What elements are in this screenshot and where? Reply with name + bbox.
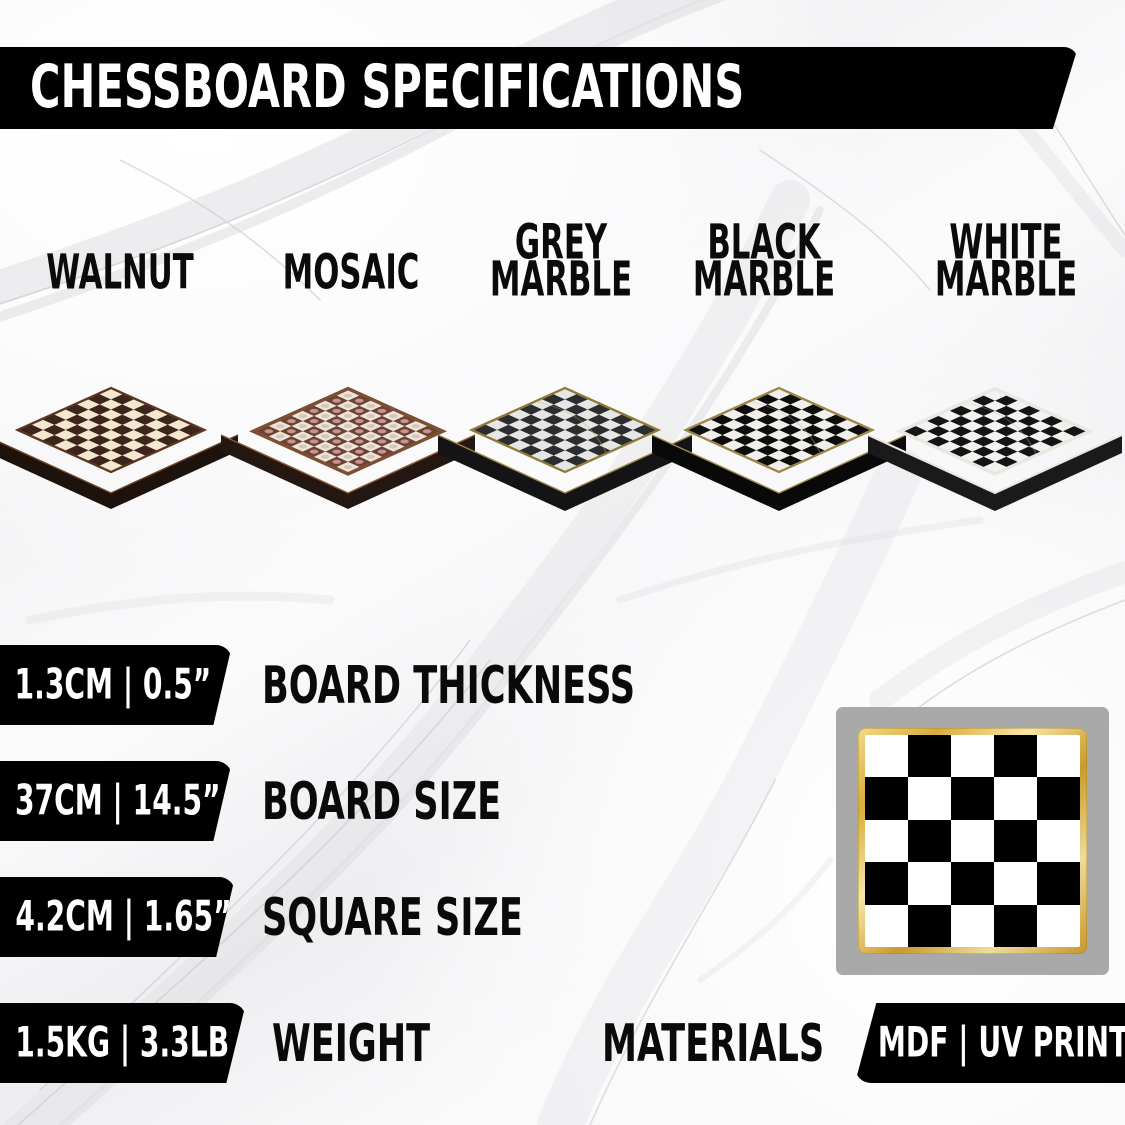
spec-label-square-size: SQUARE SIZE xyxy=(262,893,543,942)
spec-label-board-thickness: BOARD THICKNESS xyxy=(262,661,663,710)
board-label-black-marble: BLACK MARBLE xyxy=(646,224,882,298)
board-preview-white-marble[interactable] xyxy=(862,338,1125,538)
chessboard-icon xyxy=(865,735,1080,947)
spec-row-square-size: 4.2CM | 1.65” SQUARE SIZE xyxy=(0,877,700,957)
page-title: CHESSBOARD SPECIFICATIONS xyxy=(30,58,790,115)
spec-value-square-size-wrap: 4.2CM | 1.65” xyxy=(6,897,241,937)
board-white-svg xyxy=(862,338,1125,538)
board-label-mosaic: MOSAIC xyxy=(231,254,471,291)
icon-square xyxy=(951,905,994,947)
icon-square xyxy=(908,905,951,947)
board-label-walnut: WALNUT xyxy=(0,254,240,291)
spec-row-weight-materials: 1.5KG | 3.3LB WEIGHT MATERIALS MDF | UV … xyxy=(0,1003,1125,1083)
spec-value-weight-wrap: 1.5KG | 3.3LB xyxy=(6,1023,238,1063)
chessboard-icon-frame xyxy=(836,707,1109,975)
spec-label-weight: WEIGHT xyxy=(272,1019,442,1068)
board-walnut-svg xyxy=(0,338,244,538)
icon-square xyxy=(994,820,1037,862)
icon-square xyxy=(908,820,951,862)
icon-square xyxy=(994,735,1037,777)
icon-square xyxy=(1037,820,1080,862)
board-label-white-marble: WHITE MARBLE xyxy=(888,224,1124,298)
icon-square xyxy=(908,777,951,819)
icon-square xyxy=(865,735,908,777)
spec-value-board-thickness-wrap: 1.3CM | 0.5” xyxy=(6,665,220,705)
icon-square xyxy=(865,862,908,904)
icon-square xyxy=(951,862,994,904)
spec-value-tag-materials: MDF | UV PRINT xyxy=(855,1003,1125,1083)
icon-square xyxy=(951,820,994,862)
spec-label-board-size: BOARD SIZE xyxy=(262,777,519,826)
icon-square xyxy=(865,820,908,862)
spec-value-tag-weight: 1.5KG | 3.3LB xyxy=(0,1003,246,1083)
header-banner: CHESSBOARD SPECIFICATIONS xyxy=(0,47,1078,129)
icon-square xyxy=(1037,905,1080,947)
page-title-text: CHESSBOARD SPECIFICATIONS xyxy=(30,52,744,122)
icon-square xyxy=(1037,862,1080,904)
spec-row-board-thickness: 1.3CM | 0.5” BOARD THICKNESS xyxy=(0,645,700,725)
chessboard-icon-gold-border xyxy=(858,728,1087,954)
icon-square xyxy=(994,777,1037,819)
spec-row-board-size: 37CM | 14.5” BOARD SIZE xyxy=(0,761,700,841)
spec-label-materials: MATERIALS xyxy=(602,1019,841,1068)
icon-square xyxy=(951,735,994,777)
icon-square xyxy=(1037,735,1080,777)
icon-square xyxy=(994,862,1037,904)
icon-square xyxy=(994,905,1037,947)
spec-value-tag-board-size: 37CM | 14.5” xyxy=(0,761,232,841)
board-name-labels: WALNUT MOSAIC GREY MARBLE BLACK MARBLE W… xyxy=(0,222,1125,332)
icon-square xyxy=(951,777,994,819)
icon-square xyxy=(908,735,951,777)
board-preview-walnut[interactable] xyxy=(0,338,244,538)
icon-square xyxy=(865,905,908,947)
board-label-grey-marble: GREY MARBLE xyxy=(443,224,679,298)
spec-value-tag-square-size: 4.2CM | 1.65” xyxy=(0,877,235,957)
icon-square xyxy=(865,777,908,819)
spec-value-board-size-wrap: 37CM | 14.5” xyxy=(6,781,230,821)
icon-square xyxy=(908,862,951,904)
icon-square xyxy=(1037,777,1080,819)
chessboard-previews xyxy=(0,330,1125,570)
spec-value-materials-wrap: MDF | UV PRINT xyxy=(829,1023,1125,1063)
spec-value-tag-board-thickness: 1.3CM | 0.5” xyxy=(0,645,232,725)
